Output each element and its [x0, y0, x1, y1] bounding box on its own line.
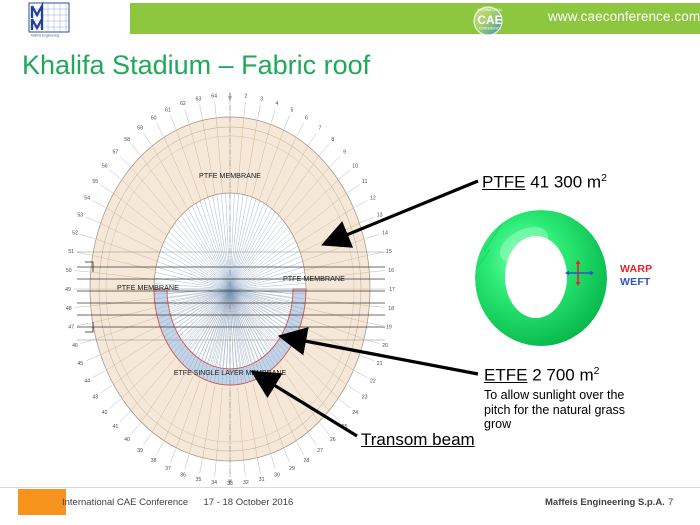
radial-number: 13 [377, 213, 383, 219]
radial-number: 37 [165, 466, 171, 472]
radial-number: 9 [343, 150, 346, 156]
label-ptfe-right: PTFE MEMBRANE [283, 274, 345, 283]
radial-number: 21 [377, 361, 383, 367]
radial-number: 22 [370, 378, 376, 384]
radial-number: 57 [113, 150, 119, 156]
radial-number: 45 [77, 361, 83, 367]
radial-number: 4 [276, 101, 279, 107]
radial-number: 11 [362, 179, 367, 185]
etfe-value: 2 700 m [532, 366, 593, 385]
etfe-term: ETFE [484, 366, 527, 385]
footer-page-number: 7 [668, 497, 673, 508]
radial-number: 64 [211, 94, 217, 100]
weft-label: WEFT [620, 276, 651, 288]
radial-number: 30 [274, 472, 280, 478]
radial-number: 41 [113, 424, 119, 430]
annotation-etfe: ETFE 2 700 m2 [484, 365, 599, 386]
radial-number: 46 [72, 343, 78, 349]
radial-number: 40 [124, 437, 130, 443]
radial-number: 18 [388, 306, 394, 312]
radial-number: 49 [65, 287, 71, 293]
label-etfe-bottom: ETFE SINGLE LAYER MEMBRANE [174, 370, 287, 377]
radial-number: 23 [362, 395, 368, 401]
radial-number: 26 [330, 437, 336, 443]
radial-number: 14 [382, 231, 388, 237]
slide: Maffeis Engineering CAE INTERNATIONAL CO… [0, 0, 700, 525]
radial-number: 2 [244, 94, 247, 100]
page-title: Khalifa Stadium – Fabric roof [22, 50, 370, 81]
radial-number: 31 [259, 477, 265, 483]
ptfe-value: 41 300 m [530, 173, 601, 192]
radial-number: 35 [196, 477, 202, 483]
radial-number: 33 [227, 481, 233, 487]
warp-label: WARP [620, 263, 652, 275]
radial-number: 48 [66, 306, 72, 312]
radial-number: 38 [151, 458, 157, 464]
radial-number: 36 [180, 472, 186, 478]
radial-number: 3 [260, 97, 263, 103]
radial-number: 34 [211, 480, 217, 486]
annotation-ptfe: PTFE 41 300 m2 [482, 172, 607, 193]
footer-company: Maffeis Engineering S.p.A. [545, 497, 665, 508]
etfe-exponent: 2 [594, 365, 600, 377]
annotation-transom-beam: Transom beam [361, 430, 475, 450]
radial-number: 12 [370, 195, 376, 201]
radial-number: 5 [291, 108, 294, 114]
label-ptfe-left: PTFE MEMBRANE [117, 283, 179, 292]
radial-number: 10 [352, 164, 358, 170]
radial-number: 52 [72, 231, 78, 237]
fabric-torus-render [468, 205, 618, 355]
radial-number: 28 [304, 458, 310, 464]
radial-number: 15 [386, 249, 392, 255]
radial-number: 8 [331, 137, 334, 143]
svg-text:INTERNATIONAL: INTERNATIONAL [477, 8, 502, 12]
radial-number: 63 [196, 97, 202, 103]
radial-number: 53 [77, 213, 83, 219]
radial-number: 27 [317, 448, 323, 454]
radial-number: 47 [68, 325, 74, 331]
footer-dates: 17 - 18 October 2016 [204, 497, 294, 508]
radial-number: 50 [66, 268, 72, 274]
radial-number: 24 [352, 410, 358, 416]
radial-number: 56 [102, 164, 108, 170]
ptfe-exponent: 2 [601, 172, 607, 184]
stadium-roof-plan: Y Y 123456789101112131415161718192021222… [55, 92, 405, 487]
annotation-etfe-description: To allow sunlight over the pitch for the… [484, 388, 649, 432]
svg-text:CONFERENCE: CONFERENCE [479, 27, 501, 31]
radial-number: 20 [382, 343, 388, 349]
header-url[interactable]: www.caeconference.com [548, 9, 700, 24]
radial-number: 51 [68, 249, 74, 255]
radial-number: 58 [124, 137, 130, 143]
cae-conference-logo: CAE INTERNATIONAL CONFERENCE [468, 2, 512, 38]
radial-number: 61 [165, 108, 171, 114]
footer-divider [0, 487, 700, 488]
radial-number: 59 [137, 126, 143, 132]
radial-number: 39 [137, 448, 143, 454]
maffeis-logo: Maffeis Engineering [26, 2, 72, 38]
radial-number: 60 [151, 116, 157, 122]
radial-number: 54 [84, 195, 90, 201]
radial-number: 17 [389, 287, 395, 293]
radial-number: 19 [386, 325, 392, 331]
radial-number: 32 [243, 480, 249, 486]
svg-text:CAE: CAE [477, 13, 502, 27]
label-ptfe-top: PTFE MEMBRANE [199, 171, 261, 180]
radial-number: 16 [388, 268, 394, 274]
radial-number: 43 [92, 395, 98, 401]
radial-number: 42 [102, 410, 108, 416]
radial-number: 7 [319, 126, 322, 132]
radial-number: 1 [229, 93, 232, 99]
transom-beam-label: Transom beam [361, 430, 475, 449]
radial-number: 25 [342, 424, 348, 430]
ptfe-term: PTFE [482, 173, 525, 192]
svg-text:Maffeis Engineering: Maffeis Engineering [31, 34, 59, 38]
footer-conference-name: International CAE Conference [62, 497, 188, 508]
footer-swatch [18, 489, 66, 515]
radial-number: 55 [92, 179, 98, 185]
radial-number: 6 [305, 116, 308, 122]
radial-number: 29 [289, 466, 295, 472]
footer-conference: International CAE Conference 17 - 18 Oct… [62, 497, 293, 508]
radial-number: 62 [180, 101, 186, 107]
radial-number: 44 [84, 378, 90, 384]
